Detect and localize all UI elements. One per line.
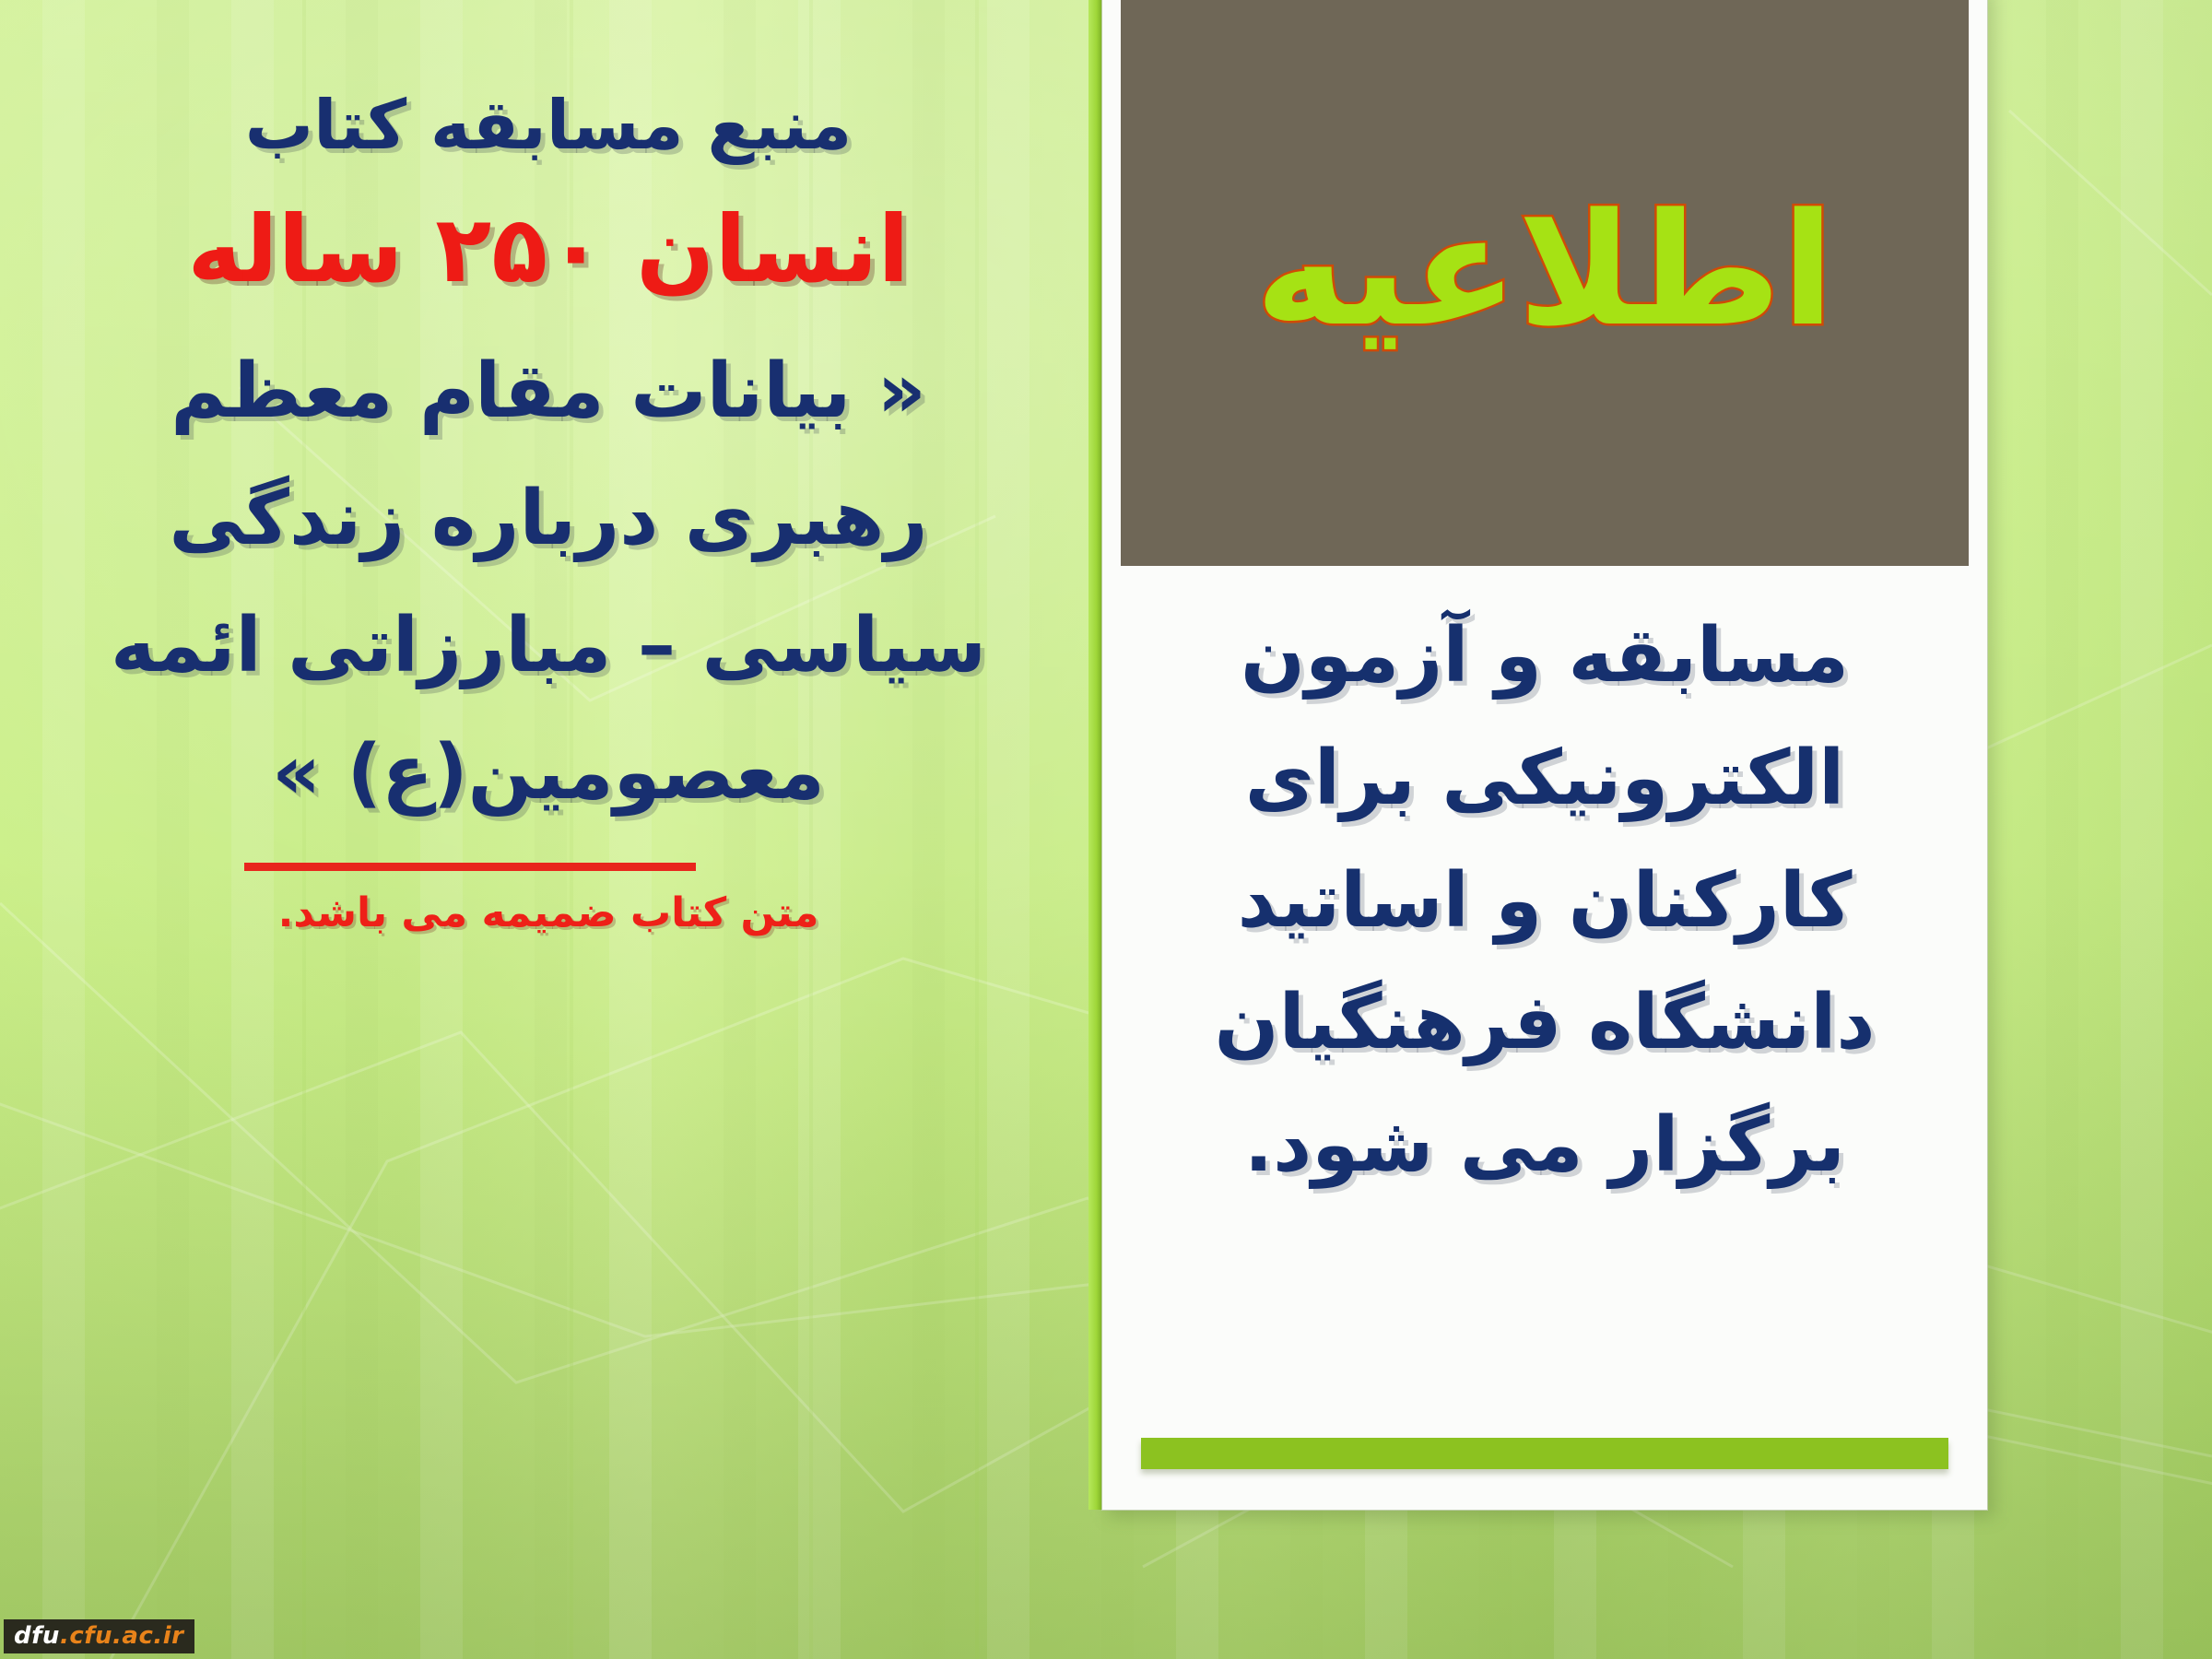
announcement-title: اطلاعیه xyxy=(1255,193,1835,347)
red-divider-rule xyxy=(244,863,696,871)
card-body-line-2: الکترونیکی برای xyxy=(1135,718,1954,841)
card-body-line-3: کارکنان و اساتید xyxy=(1135,841,1954,963)
book-title: انسان ۲۵۰ ساله xyxy=(0,201,1097,298)
source-heading: منبع مسابقه کتاب xyxy=(0,90,1097,162)
subtitle-line-3: سیاسی – مبارزاتی ائمه xyxy=(0,606,1097,686)
card-header-block: اطلاعیه xyxy=(1121,0,1969,566)
announcement-card: اطلاعیه مسابقه و آزمون الکترونیکی برای ک… xyxy=(1102,0,1987,1510)
card-body-line-5: برگزار می شود. xyxy=(1135,1085,1954,1207)
card-body-line-4: دانشگاه فرهنگیان xyxy=(1135,962,1954,1085)
card-left-green-strip xyxy=(1088,0,1103,1510)
attachment-note: متن کتاب ضمیمه می باشد. xyxy=(0,892,1097,935)
subtitle-line-1: « بیانات مقام معظم xyxy=(0,352,1097,431)
site-watermark: dfu.cfu.ac.ir xyxy=(4,1619,194,1653)
subtitle-line-4: معصومین(ع) » xyxy=(0,734,1097,813)
watermark-domain: .cfu.ac.ir xyxy=(60,1622,184,1650)
slide-canvas: منبع مسابقه کتاب انسان ۲۵۰ ساله « بیانات… xyxy=(0,0,2212,1659)
left-text-column: منبع مسابقه کتاب انسان ۲۵۰ ساله « بیانات… xyxy=(0,0,1097,1659)
card-green-accent-bar xyxy=(1141,1438,1948,1469)
card-body-text: مسابقه و آزمون الکترونیکی برای کارکنان و… xyxy=(1135,595,1954,1207)
subtitle-line-2: رهبری درباره زندگی xyxy=(0,479,1097,559)
card-body-line-1: مسابقه و آزمون xyxy=(1135,595,1954,718)
watermark-prefix: dfu xyxy=(14,1622,60,1650)
